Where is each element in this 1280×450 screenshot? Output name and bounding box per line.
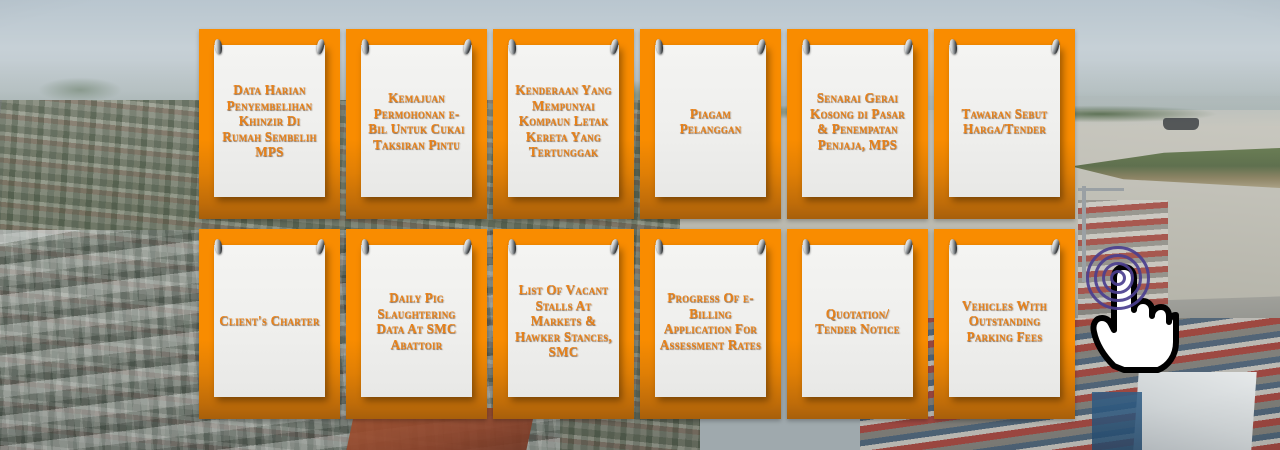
- pin-icon: [904, 239, 913, 255]
- note-sheet: Kemajuan Permohonan e-Bil Untuk Cukai Ta…: [361, 45, 472, 197]
- service-card[interactable]: Tawaran Sebut Harga/Tender: [934, 29, 1075, 219]
- service-card[interactable]: Vehicles With Outstanding Parking Fees: [934, 229, 1075, 419]
- service-card-label: Senarai Gerai Kosong di Pasar & Penempat…: [806, 90, 909, 152]
- pin-icon: [361, 39, 370, 55]
- pin-icon: [949, 239, 958, 255]
- pin-icon: [802, 239, 811, 255]
- service-card[interactable]: List Of Vacant Stalls At Markets & Hawke…: [493, 229, 634, 419]
- pin-icon: [610, 239, 619, 255]
- pin-icon: [214, 39, 223, 55]
- note-sheet: Progress Of e-Billing Application For As…: [655, 245, 766, 397]
- pin-icon: [757, 39, 766, 55]
- service-card-label: Kenderaan Yang Mempunyai Kompaun Letak K…: [512, 82, 615, 160]
- pin-icon: [1051, 39, 1060, 55]
- service-card-label: Daily Pig Slaughtering Data At SMC Abatt…: [365, 290, 468, 352]
- note-sheet: List Of Vacant Stalls At Markets & Hawke…: [508, 245, 619, 397]
- pin-icon: [1051, 239, 1060, 255]
- card-row-2: Client's Charter Daily Pig Slaughtering …: [199, 229, 1080, 419]
- pin-icon: [802, 39, 811, 55]
- service-card-label: Client's Charter: [219, 313, 319, 329]
- service-card-label: Vehicles With Outstanding Parking Fees: [953, 298, 1056, 345]
- service-card[interactable]: Piagam Pelanggan: [640, 29, 781, 219]
- service-card[interactable]: Daily Pig Slaughtering Data At SMC Abatt…: [346, 229, 487, 419]
- pin-icon: [904, 39, 913, 55]
- service-card[interactable]: Client's Charter: [199, 229, 340, 419]
- note-sheet: Vehicles With Outstanding Parking Fees: [949, 245, 1060, 397]
- pin-icon: [949, 39, 958, 55]
- service-card[interactable]: Senarai Gerai Kosong di Pasar & Penempat…: [787, 29, 928, 219]
- pin-icon: [655, 39, 664, 55]
- service-card[interactable]: Progress Of e-Billing Application For As…: [640, 229, 781, 419]
- service-card-label: Data Harian Penyembelihan Khinzir Di Rum…: [218, 82, 321, 160]
- note-sheet: Daily Pig Slaughtering Data At SMC Abatt…: [361, 245, 472, 397]
- note-sheet: Quotation/ Tender Notice: [802, 245, 913, 397]
- service-card-label: Tawaran Sebut Harga/Tender: [953, 106, 1056, 137]
- pin-icon: [316, 39, 325, 55]
- pin-icon: [508, 39, 517, 55]
- note-sheet: Kenderaan Yang Mempunyai Kompaun Letak K…: [508, 45, 619, 197]
- pin-icon: [361, 239, 370, 255]
- note-sheet: Piagam Pelanggan: [655, 45, 766, 197]
- service-card[interactable]: Kemajuan Permohonan e-Bil Untuk Cukai Ta…: [346, 29, 487, 219]
- page-root: Data Harian Penyembelihan Khinzir Di Rum…: [0, 0, 1280, 450]
- pin-icon: [316, 239, 325, 255]
- service-card-label: Progress Of e-Billing Application For As…: [659, 290, 762, 352]
- note-sheet: Client's Charter: [214, 245, 325, 397]
- pin-icon: [214, 239, 223, 255]
- service-card[interactable]: Kenderaan Yang Mempunyai Kompaun Letak K…: [493, 29, 634, 219]
- service-card-grid: Data Harian Penyembelihan Khinzir Di Rum…: [199, 29, 1080, 419]
- pin-icon: [655, 239, 664, 255]
- pin-icon: [610, 39, 619, 55]
- pin-icon: [757, 239, 766, 255]
- pin-icon: [463, 239, 472, 255]
- note-sheet: Senarai Gerai Kosong di Pasar & Penempat…: [802, 45, 913, 197]
- note-sheet: Tawaran Sebut Harga/Tender: [949, 45, 1060, 197]
- pin-icon: [508, 239, 517, 255]
- service-card-label: Quotation/ Tender Notice: [806, 306, 909, 337]
- service-card-label: List Of Vacant Stalls At Markets & Hawke…: [512, 282, 615, 360]
- pin-icon: [463, 39, 472, 55]
- service-card[interactable]: Quotation/ Tender Notice: [787, 229, 928, 419]
- card-row-1: Data Harian Penyembelihan Khinzir Di Rum…: [199, 29, 1080, 219]
- service-card-label: Piagam Pelanggan: [659, 106, 762, 137]
- service-card-label: Kemajuan Permohonan e-Bil Untuk Cukai Ta…: [365, 90, 468, 152]
- service-card[interactable]: Data Harian Penyembelihan Khinzir Di Rum…: [199, 29, 340, 219]
- note-sheet: Data Harian Penyembelihan Khinzir Di Rum…: [214, 45, 325, 197]
